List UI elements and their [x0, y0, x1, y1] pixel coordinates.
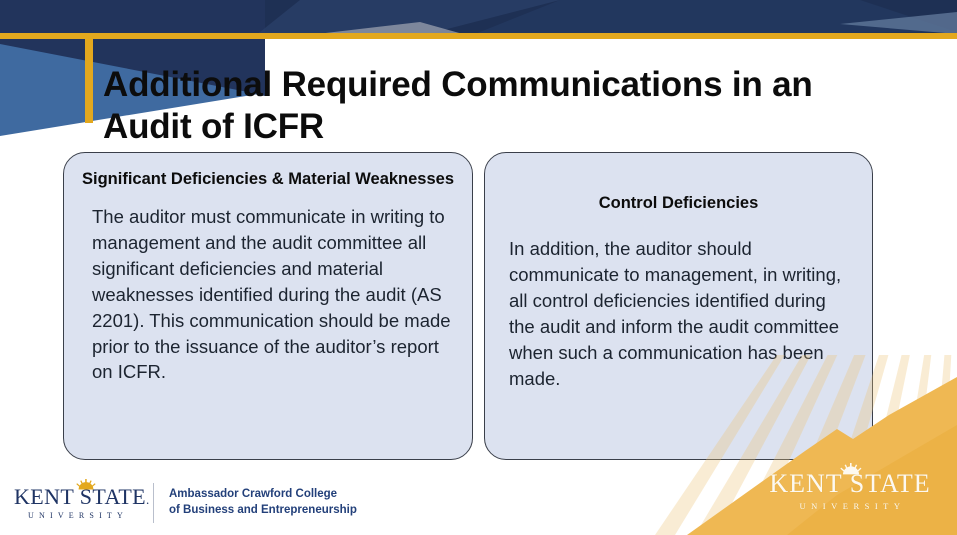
kent-state-university-text: UNIVERSITY [14, 511, 138, 520]
sunburst-icon [75, 479, 97, 490]
page-title: Additional Required Communications in an… [103, 64, 893, 147]
kent-state-watermark-logo: KENT STATE UNIVERSITY [765, 471, 935, 511]
slide-canvas: Additional Required Communications in an… [0, 0, 957, 535]
content-box-control-deficiencies: Control Deficiencies In addition, the au… [484, 152, 873, 460]
footer-divider [153, 483, 154, 523]
gold-horizontal-rule [0, 33, 957, 39]
content-box-title: Control Deficiencies [503, 193, 854, 214]
grey-highlight [300, 22, 470, 36]
content-box-body: The auditor must communicate in writing … [82, 204, 454, 385]
college-name-text: Ambassador Crawford College of Business … [169, 487, 357, 519]
footer-logo-group: KENT STATE. UNIVERSITY Ambassador Crawfo… [14, 483, 357, 523]
content-box-title: Significant Deficiencies & Material Weak… [82, 169, 454, 190]
grey-highlight-2 [840, 12, 957, 34]
content-box-significant-deficiencies: Significant Deficiencies & Material Weak… [63, 152, 473, 460]
watermark-university-text: UNIVERSITY [765, 501, 935, 511]
content-box-body: In addition, the auditor should communic… [503, 236, 854, 391]
sunburst-icon [839, 463, 863, 475]
kent-state-wordmark-period: . [146, 492, 150, 507]
kent-state-logo: KENT STATE. UNIVERSITY [14, 486, 138, 520]
gold-vertical-bar [85, 33, 93, 123]
navy-chevron-right [470, 0, 957, 36]
navy-band-shape [0, 0, 957, 36]
navy-chevron-center [255, 0, 560, 36]
